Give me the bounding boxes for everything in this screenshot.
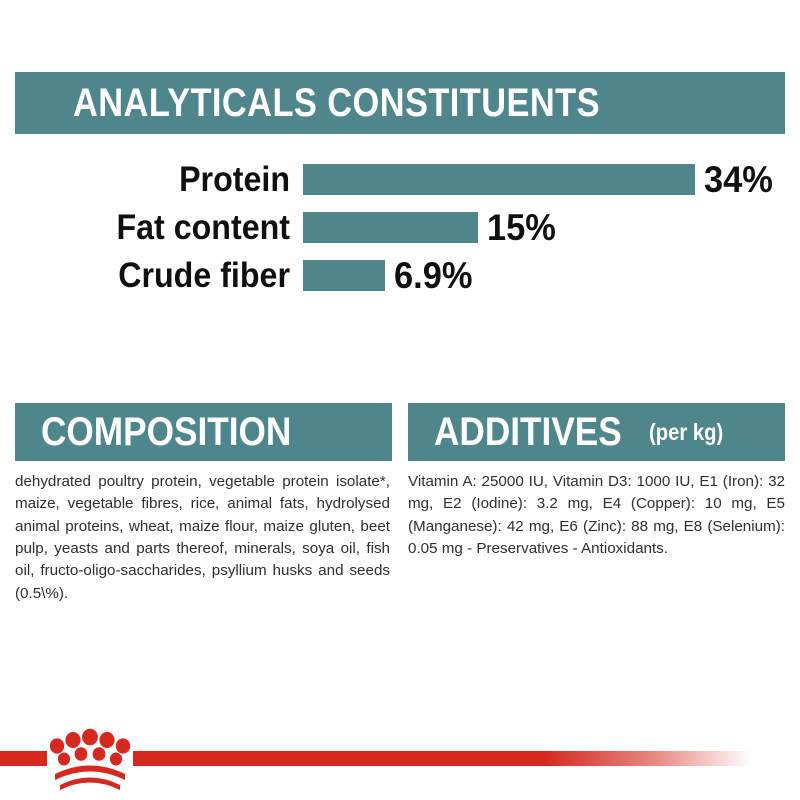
analyticals-constituents-header: ANALYTICALS CONSTITUENTS (15, 72, 785, 134)
additives-subtitle: (per kg) (649, 421, 723, 444)
bar-row-protein: Protein 34% (0, 155, 800, 203)
nutrition-fact-panel: ANALYTICALS CONSTITUENTS Protein 34% Fat… (0, 0, 800, 800)
additives-body-text: Vitamin A: 25000 IU, Vitamin D3: 1000 IU… (408, 471, 785, 560)
bar-track-crude-fiber: 6.9% (303, 257, 478, 294)
composition-panel: COMPOSITION dehydrated poultry protein, … (15, 403, 392, 605)
analyticals-bar-chart: Protein 34% Fat content 15% Crude fiber … (0, 155, 800, 305)
bar-fill-protein (303, 164, 695, 195)
bar-fill-fat-content (303, 212, 478, 243)
bar-label-fat-content: Fat content (0, 210, 290, 245)
additives-header: ADDITIVES (per kg) (408, 403, 785, 461)
bar-value-protein: 34% (704, 161, 773, 198)
bar-fill-crude-fiber (303, 260, 385, 291)
composition-header: COMPOSITION (15, 403, 392, 461)
composition-body-text: dehydrated poultry protein, vegetable pr… (15, 471, 392, 605)
bar-row-crude-fiber: Crude fiber 6.9% (0, 251, 800, 299)
additives-title: ADDITIVES (434, 412, 622, 452)
bar-value-crude-fiber: 6.9% (394, 257, 472, 294)
analyticals-constituents-title: ANALYTICALS CONSTITUENTS (73, 83, 600, 123)
composition-title: COMPOSITION (41, 412, 291, 452)
bar-label-crude-fiber: Crude fiber (0, 258, 290, 293)
additives-panel: ADDITIVES (per kg) Vitamin A: 25000 IU, … (408, 403, 785, 560)
bar-value-fat-content: 15% (487, 209, 556, 246)
bar-label-protein: Protein (0, 162, 290, 197)
royal-canin-crown-icon (49, 724, 131, 794)
bar-track-fat-content: 15% (303, 209, 561, 246)
bar-track-protein: 34% (303, 161, 778, 198)
bar-row-fat-content: Fat content 15% (0, 203, 800, 251)
